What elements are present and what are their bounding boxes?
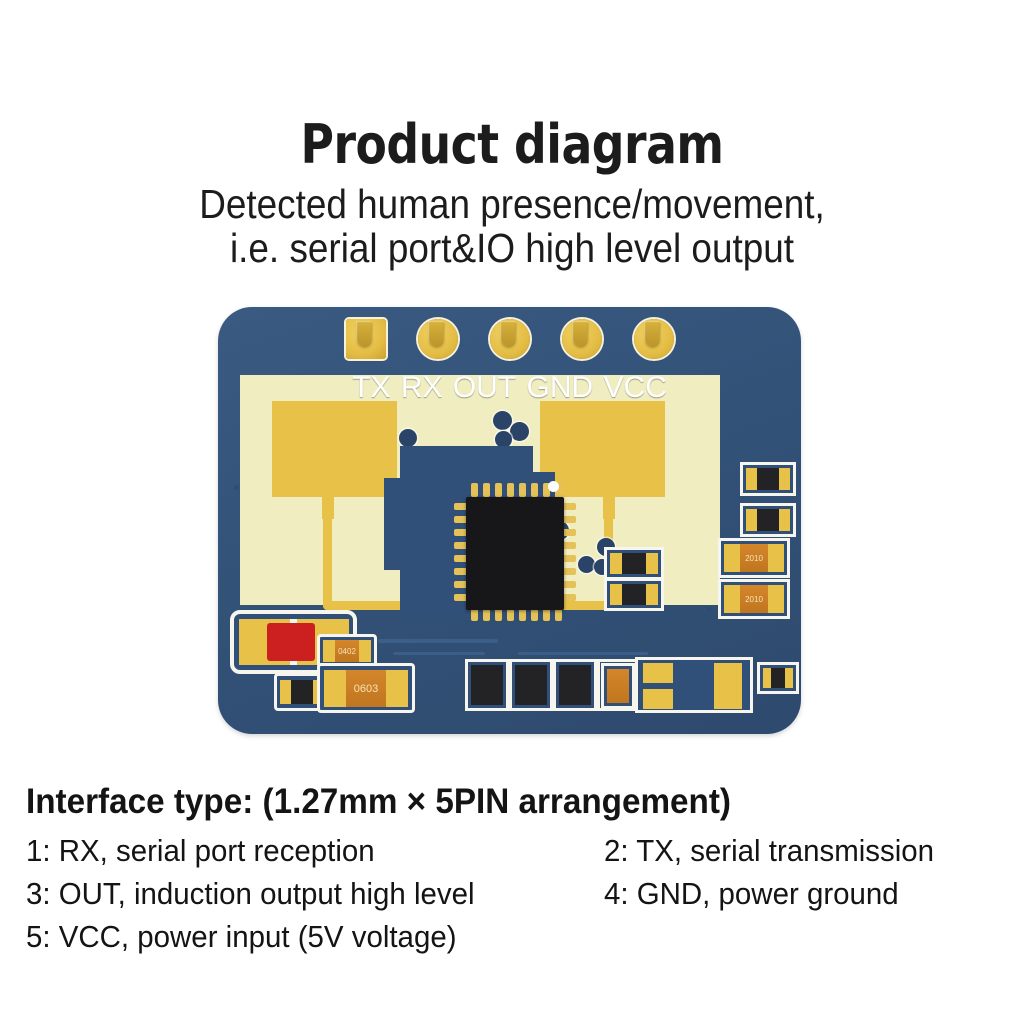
page-title: Product diagram [31,118,994,172]
right-resistor-1 [746,468,790,490]
pin-hole-4 [572,321,587,346]
pin-pad-4-gnd [562,319,602,359]
resistor-row-item-2 [515,665,547,705]
cap-0603-marking: 0603 [346,670,386,707]
pin-hole-2 [428,321,443,346]
antenna-patch-left [272,401,397,497]
page-subtitle: Detected human presence/movement, i.e. s… [51,182,973,271]
right-cap-2010-top-marking: 2010 [740,544,769,572]
right-cap-2010-bottom: 2010 [724,585,784,613]
cap-0603: 0603 [324,670,408,707]
pin-hole-3 [500,321,515,346]
right-cap-2010-bottom-marking: 2010 [740,585,769,613]
via-cluster-c3 [578,556,595,573]
regulator-pad-tab [714,663,742,709]
regulator-small-cap [607,669,629,703]
right-resistor-2 [746,509,790,531]
via-cluster-a1 [493,411,512,430]
regulator-pad-b [643,689,673,709]
chip-pin1-marker-dot [548,481,559,492]
cap-0402-marking: 0402 [335,640,358,662]
right-cap-2010-top: 2010 [724,544,784,572]
via-cluster-a2 [510,422,529,441]
radar-soc-chip [466,497,564,610]
pin-hole-1 [356,321,371,346]
pin-desc-5: 5: VCC, power input (5V voltage) [26,916,974,957]
pin-description-list: 1: RX, serial port reception 2: TX, seri… [26,830,1016,958]
status-led-red [267,623,315,661]
header-block: Product diagram Detected human presence/… [0,118,1024,271]
pin-label-tx: TX [352,371,390,404]
pin-pad-2-rx [418,319,458,359]
pin-hole-5 [644,321,659,346]
subtitle-line-1: Detected human presence/movement, [51,182,973,226]
pcb-board: TX RX OUT GND VCC [218,307,801,734]
pin-label-gnd: GND [527,371,594,404]
pin-desc-1: 1: RX, serial port reception [26,830,575,871]
corner-resistor [763,668,793,688]
resistor-row-item-3 [559,665,591,705]
product-image-pcb-module: TX RX OUT GND VCC [218,307,801,734]
cap-pair-left-bottom [610,584,658,605]
cap-pair-left-top [610,553,658,574]
pin-pad-3-out [490,319,530,359]
footer-block: Interface type: (1.27mm × 5PIN arrangeme… [26,782,1016,958]
pin-label-out: OUT [453,371,516,404]
pin-label-vcc: VCC [604,371,667,404]
pin-pad-5-vcc [634,319,674,359]
regulator-pad-a [643,663,673,683]
subtitle-line-2: i.e. serial port&IO high level output [51,226,973,270]
pin-label-rx: RX [401,371,443,404]
interface-type-heading: Interface type: (1.27mm × 5PIN arrangeme… [26,782,967,822]
antenna-trace-left-vertical [323,513,332,609]
cap-0402: 0402 [323,640,371,662]
pin-desc-3: 3: OUT, induction output high level [26,873,575,914]
via-center [399,429,417,447]
silkscreen-pin-labels: TX RX OUT GND VCC [218,371,801,405]
pin-pad-1-tx [346,319,386,359]
resistor-row-item-1 [471,665,503,705]
pin-desc-4: 4: GND, power ground [604,873,1003,914]
pin-desc-2: 2: TX, serial transmission [604,830,1003,871]
